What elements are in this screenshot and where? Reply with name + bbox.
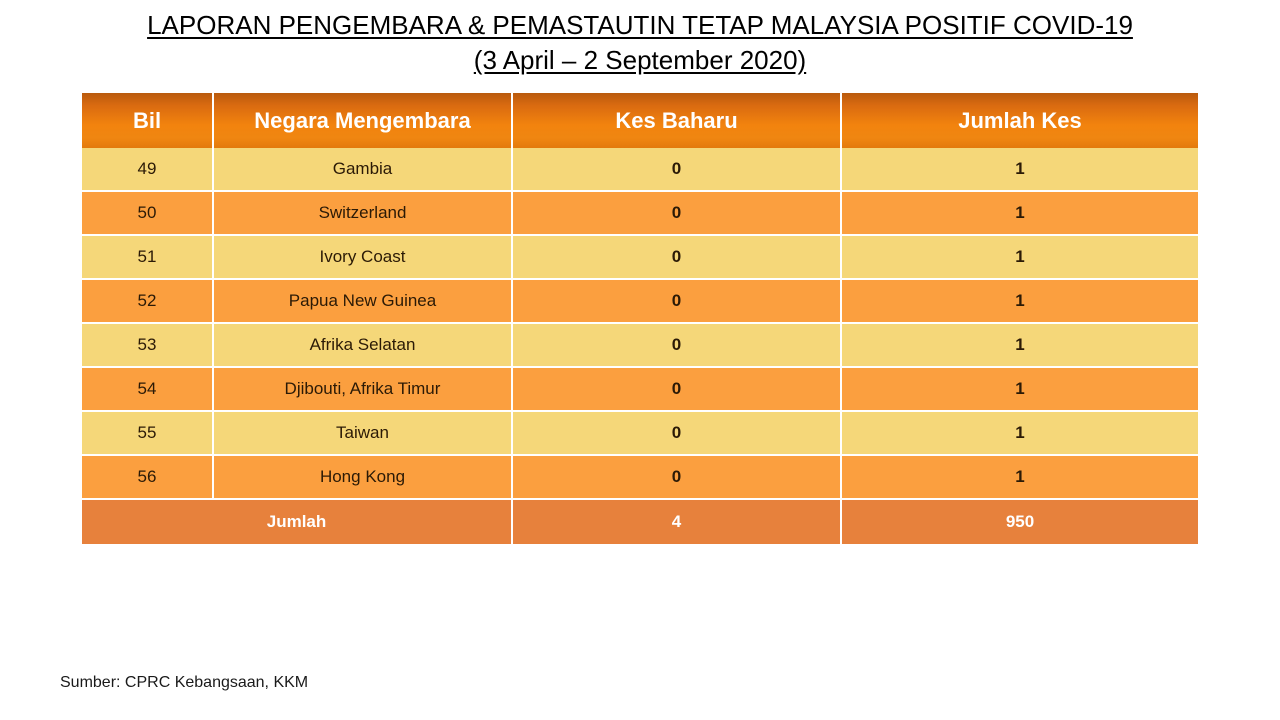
cell-bil: 55	[82, 412, 214, 456]
table-row: 52 Papua New Guinea 0 1	[82, 280, 1198, 324]
cell-bil: 49	[82, 148, 214, 192]
table-row: 56 Hong Kong 0 1	[82, 456, 1198, 500]
cell-negara: Papua New Guinea	[214, 280, 513, 324]
column-header-negara: Negara Mengembara	[214, 93, 513, 148]
table-row: 55 Taiwan 0 1	[82, 412, 1198, 456]
covid-table: Bil Negara Mengembara Kes Baharu Jumlah …	[82, 93, 1198, 544]
table-header: Bil Negara Mengembara Kes Baharu Jumlah …	[82, 93, 1198, 148]
cell-bil: 56	[82, 456, 214, 500]
cell-bil: 51	[82, 236, 214, 280]
table-body: 49 Gambia 0 1 50 Switzerland 0 1 51 Ivor…	[82, 148, 1198, 544]
cell-kes-baharu: 0	[513, 368, 842, 412]
cell-bil: 52	[82, 280, 214, 324]
table-row: 51 Ivory Coast 0 1	[82, 236, 1198, 280]
slide-canvas: LAPORAN PENGEMBARA & PEMASTAUTIN TETAP M…	[0, 0, 1280, 720]
cell-jumlah-kes: 1	[842, 236, 1198, 280]
total-jumlah-kes: 950	[842, 500, 1198, 544]
title-line-2: (3 April – 2 September 2020)	[474, 43, 806, 77]
table-row: 49 Gambia 0 1	[82, 148, 1198, 192]
total-label: Jumlah	[82, 500, 513, 544]
table-total-row: Jumlah 4 950	[82, 500, 1198, 544]
cell-negara: Gambia	[214, 148, 513, 192]
cell-negara: Afrika Selatan	[214, 324, 513, 368]
cell-negara: Taiwan	[214, 412, 513, 456]
cell-kes-baharu: 0	[513, 456, 842, 500]
cell-jumlah-kes: 1	[842, 456, 1198, 500]
table-row: 50 Switzerland 0 1	[82, 192, 1198, 236]
title-line-1: LAPORAN PENGEMBARA & PEMASTAUTIN TETAP M…	[147, 8, 1133, 42]
cell-jumlah-kes: 1	[842, 412, 1198, 456]
cell-negara: Djibouti, Afrika Timur	[214, 368, 513, 412]
table-row: 54 Djibouti, Afrika Timur 0 1	[82, 368, 1198, 412]
cell-jumlah-kes: 1	[842, 368, 1198, 412]
cell-kes-baharu: 0	[513, 324, 842, 368]
total-kes-baharu: 4	[513, 500, 842, 544]
table-row: 53 Afrika Selatan 0 1	[82, 324, 1198, 368]
cell-kes-baharu: 0	[513, 280, 842, 324]
source-note: Sumber: CPRC Kebangsaan, KKM	[60, 674, 308, 692]
cell-negara: Hong Kong	[214, 456, 513, 500]
cell-kes-baharu: 0	[513, 192, 842, 236]
column-header-baharu: Kes Baharu	[513, 93, 842, 148]
cell-jumlah-kes: 1	[842, 148, 1198, 192]
column-header-bil: Bil	[82, 93, 214, 148]
cell-kes-baharu: 0	[513, 236, 842, 280]
cell-negara: Switzerland	[214, 192, 513, 236]
cell-jumlah-kes: 1	[842, 192, 1198, 236]
cell-bil: 53	[82, 324, 214, 368]
column-header-jumlah: Jumlah Kes	[842, 93, 1198, 148]
page-title: LAPORAN PENGEMBARA & PEMASTAUTIN TETAP M…	[0, 8, 1280, 77]
cell-bil: 54	[82, 368, 214, 412]
cell-bil: 50	[82, 192, 214, 236]
header-row: Bil Negara Mengembara Kes Baharu Jumlah …	[82, 93, 1198, 148]
covid-table-container: Bil Negara Mengembara Kes Baharu Jumlah …	[82, 93, 1198, 544]
cell-kes-baharu: 0	[513, 412, 842, 456]
cell-jumlah-kes: 1	[842, 280, 1198, 324]
cell-kes-baharu: 0	[513, 148, 842, 192]
cell-negara: Ivory Coast	[214, 236, 513, 280]
cell-jumlah-kes: 1	[842, 324, 1198, 368]
